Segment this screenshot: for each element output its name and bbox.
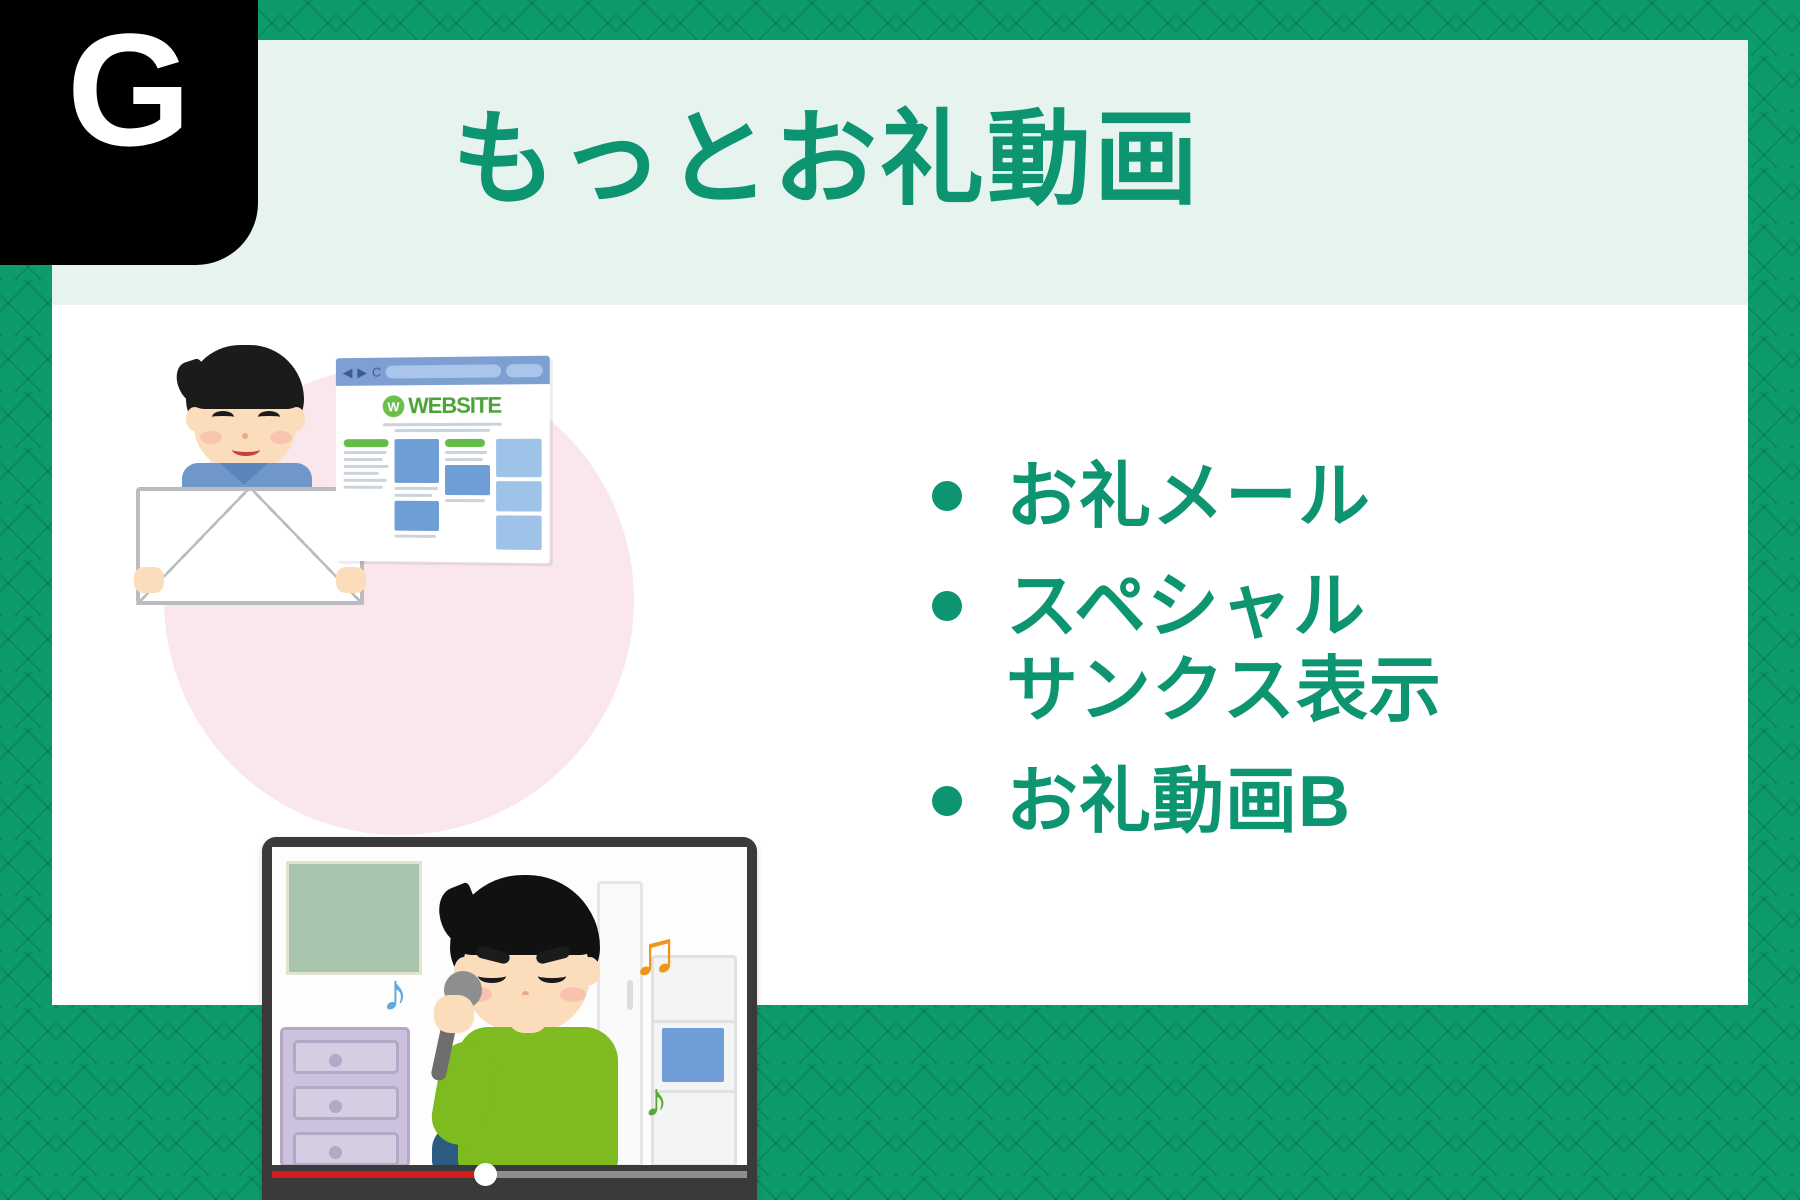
content-block [496,481,542,511]
person-hand-right [336,567,366,593]
website-column [395,439,439,549]
video-screen[interactable]: ♪ ♫ ♪ [272,847,747,1165]
video-progress-bar[interactable] [272,1165,747,1183]
text-line [395,487,439,490]
person-cheek-right [270,431,292,444]
text-line [394,429,489,432]
back-icon: ◀ [343,365,353,378]
forward-icon: ▶ [357,365,367,378]
text-line [344,479,387,482]
body-card: ◀ ▶ C W WEBSITE [52,305,1748,1005]
person-cheek-left [200,431,222,444]
person-mouth [232,443,260,456]
bullet-label: スペシャル サンクス表示 [1006,565,1442,733]
singer-fringe [452,901,598,955]
content-block [395,439,439,483]
text-line [395,494,433,497]
person-eye-left [212,411,234,423]
person-fringe [188,367,302,409]
header-band: もっとお礼動画 [52,40,1748,345]
website-header: W WEBSITE [344,394,542,417]
person-with-envelope-illustration [158,345,348,595]
text-line [445,458,483,461]
progress-played [272,1171,481,1178]
website-logo-badge: W [383,395,405,417]
illustration-cluster: ◀ ▶ C W WEBSITE [112,325,832,985]
bullet-label: お礼メール [1006,455,1371,539]
dresser-knob [329,1054,342,1067]
logo-badge: G [0,0,258,265]
website-column [445,439,490,550]
text-line [344,486,383,489]
dresser-knob [329,1146,342,1159]
list-item: スペシャル サンクス表示 [932,565,1692,733]
bullet-label: お礼動画B [1006,760,1351,844]
list-item: お礼動画B [932,760,1692,844]
music-note-icon: ♫ [632,923,679,985]
envelope-icon [136,487,364,605]
browser-content: W WEBSITE [336,384,550,560]
reload-icon: C [372,365,381,378]
person-nose [242,433,248,439]
bullet-dot-icon [932,591,962,621]
dresser-drawer [293,1040,399,1074]
singer-ear-right [580,957,600,985]
logo-letter: G [0,10,258,170]
content-block [395,501,439,531]
feature-bullet-list: お礼メール スペシャル サンクス表示 お礼動画B [932,455,1692,870]
text-line [445,451,487,454]
bullet-dot-icon [932,786,962,816]
singer-hand-right [508,995,548,1033]
person-ear-right [288,407,305,431]
text-line [445,499,485,502]
text-line [344,472,379,475]
singer-eye-left [478,969,506,983]
singer-hand-left [434,995,474,1033]
video-player[interactable]: ♪ ♫ ♪ 1:35 / 3:40 [262,837,757,1200]
browser-toolbar: ◀ ▶ C [336,356,550,386]
wall-picture [286,861,422,975]
text-line [344,458,383,461]
text-line [382,423,501,426]
bullet-dot-icon [932,481,962,511]
website-columns [344,439,542,550]
singer-illustration [422,875,632,1165]
person-hand-left [134,567,164,593]
music-note-icon: ♪ [644,1077,668,1125]
toolbar-extra-pill [506,363,542,377]
person-ear-left [186,407,203,431]
address-bar [386,364,501,378]
video-controls: 1:35 / 3:40 [272,1183,747,1200]
section-pill [445,439,485,447]
content-block [445,465,490,495]
dresser-drawer [293,1086,399,1120]
dresser-drawer [293,1132,399,1165]
text-line [344,451,387,454]
music-note-icon: ♪ [382,967,408,1019]
website-column [496,439,542,550]
content-block [496,439,542,477]
website-subtitle-lines [344,423,542,433]
dresser-knob [329,1100,342,1113]
text-line [395,535,437,538]
website-illustration: ◀ ▶ C W WEBSITE [336,356,550,564]
person-eye-right [258,411,280,423]
text-line [344,465,389,468]
singer-eye-right [538,969,566,983]
progress-thumb[interactable] [474,1163,497,1186]
shelf-divider [654,1020,734,1023]
shelf-item [662,1028,724,1082]
slide-root: もっとお礼動画 G [0,0,1800,1200]
list-item: お礼メール [932,455,1692,539]
website-title: WEBSITE [408,395,501,418]
section-pill [344,439,389,447]
singer-cheek-right [560,987,586,1002]
content-block [496,515,542,550]
dresser [280,1027,410,1165]
page-title: もっとお礼動画 [452,95,1652,225]
website-column [344,439,389,548]
